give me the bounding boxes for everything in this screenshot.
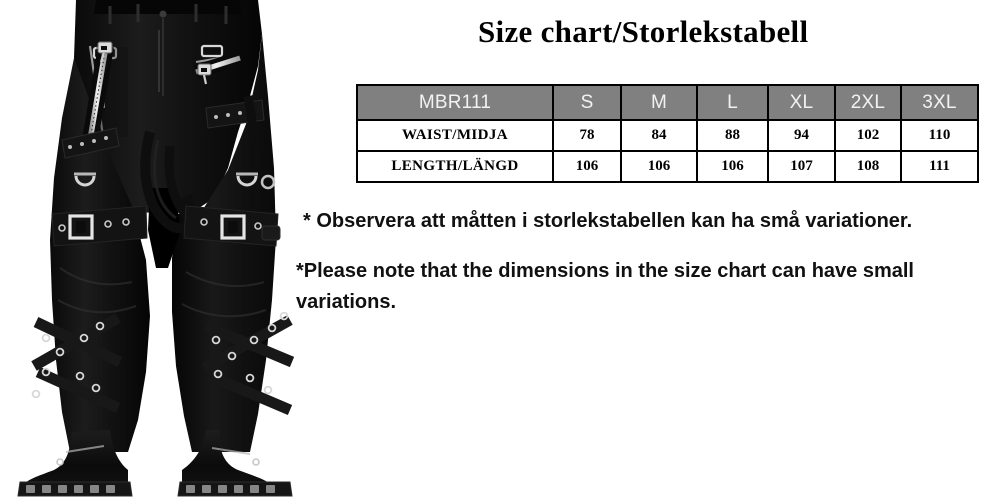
table-header-size-3xl: 3XL (901, 85, 978, 120)
row-label-length: LENGTH/LÄNGD (357, 151, 553, 182)
table-row-waist: WAIST/MIDJA 78 84 88 94 102 110 (357, 120, 978, 151)
cell-waist-l: 88 (697, 120, 768, 151)
cell-waist-3xl: 110 (901, 120, 978, 151)
cell-length-xl: 107 (768, 151, 835, 182)
page-title: Size chart/Storlekstabell (478, 14, 948, 50)
table-header-size-m: M (621, 85, 697, 120)
size-chart-table-body: WAIST/MIDJA 78 84 88 94 102 110 LENGTH/L… (357, 120, 978, 182)
table-header-size-l: L (697, 85, 768, 120)
cell-waist-xl: 94 (768, 120, 835, 151)
cell-waist-m: 84 (621, 120, 697, 151)
cell-length-l: 106 (697, 151, 768, 182)
note-swedish: * Observera att måtten i storlekstabelle… (303, 208, 973, 234)
cell-length-3xl: 111 (901, 151, 978, 182)
size-chart-table-head: MBR111 S M L XL 2XL 3XL (357, 85, 978, 120)
note-english: *Please note that the dimensions in the … (296, 256, 976, 318)
cell-waist-2xl: 102 (835, 120, 901, 151)
table-row-length: LENGTH/LÄNGD 106 106 106 107 108 111 (357, 151, 978, 182)
table-header-model: MBR111 (357, 85, 553, 120)
cell-length-2xl: 108 (835, 151, 901, 182)
cell-length-m: 106 (621, 151, 697, 182)
cell-waist-s: 78 (553, 120, 621, 151)
product-photo (0, 0, 335, 500)
size-chart-table-container: MBR111 S M L XL 2XL 3XL WAIST/MIDJA 78 8… (356, 84, 963, 183)
cell-length-s: 106 (553, 151, 621, 182)
size-chart-table: MBR111 S M L XL 2XL 3XL WAIST/MIDJA 78 8… (356, 84, 979, 183)
size-chart-page: Size chart/Storlekstabell MBR111 S M L X… (0, 0, 1000, 500)
table-header-size-s: S (553, 85, 621, 120)
product-photo-black-bondage-pants-icon (0, 0, 335, 500)
row-label-waist: WAIST/MIDJA (357, 120, 553, 151)
table-header-size-xl: XL (768, 85, 835, 120)
table-header-row: MBR111 S M L XL 2XL 3XL (357, 85, 978, 120)
table-header-size-2xl: 2XL (835, 85, 901, 120)
